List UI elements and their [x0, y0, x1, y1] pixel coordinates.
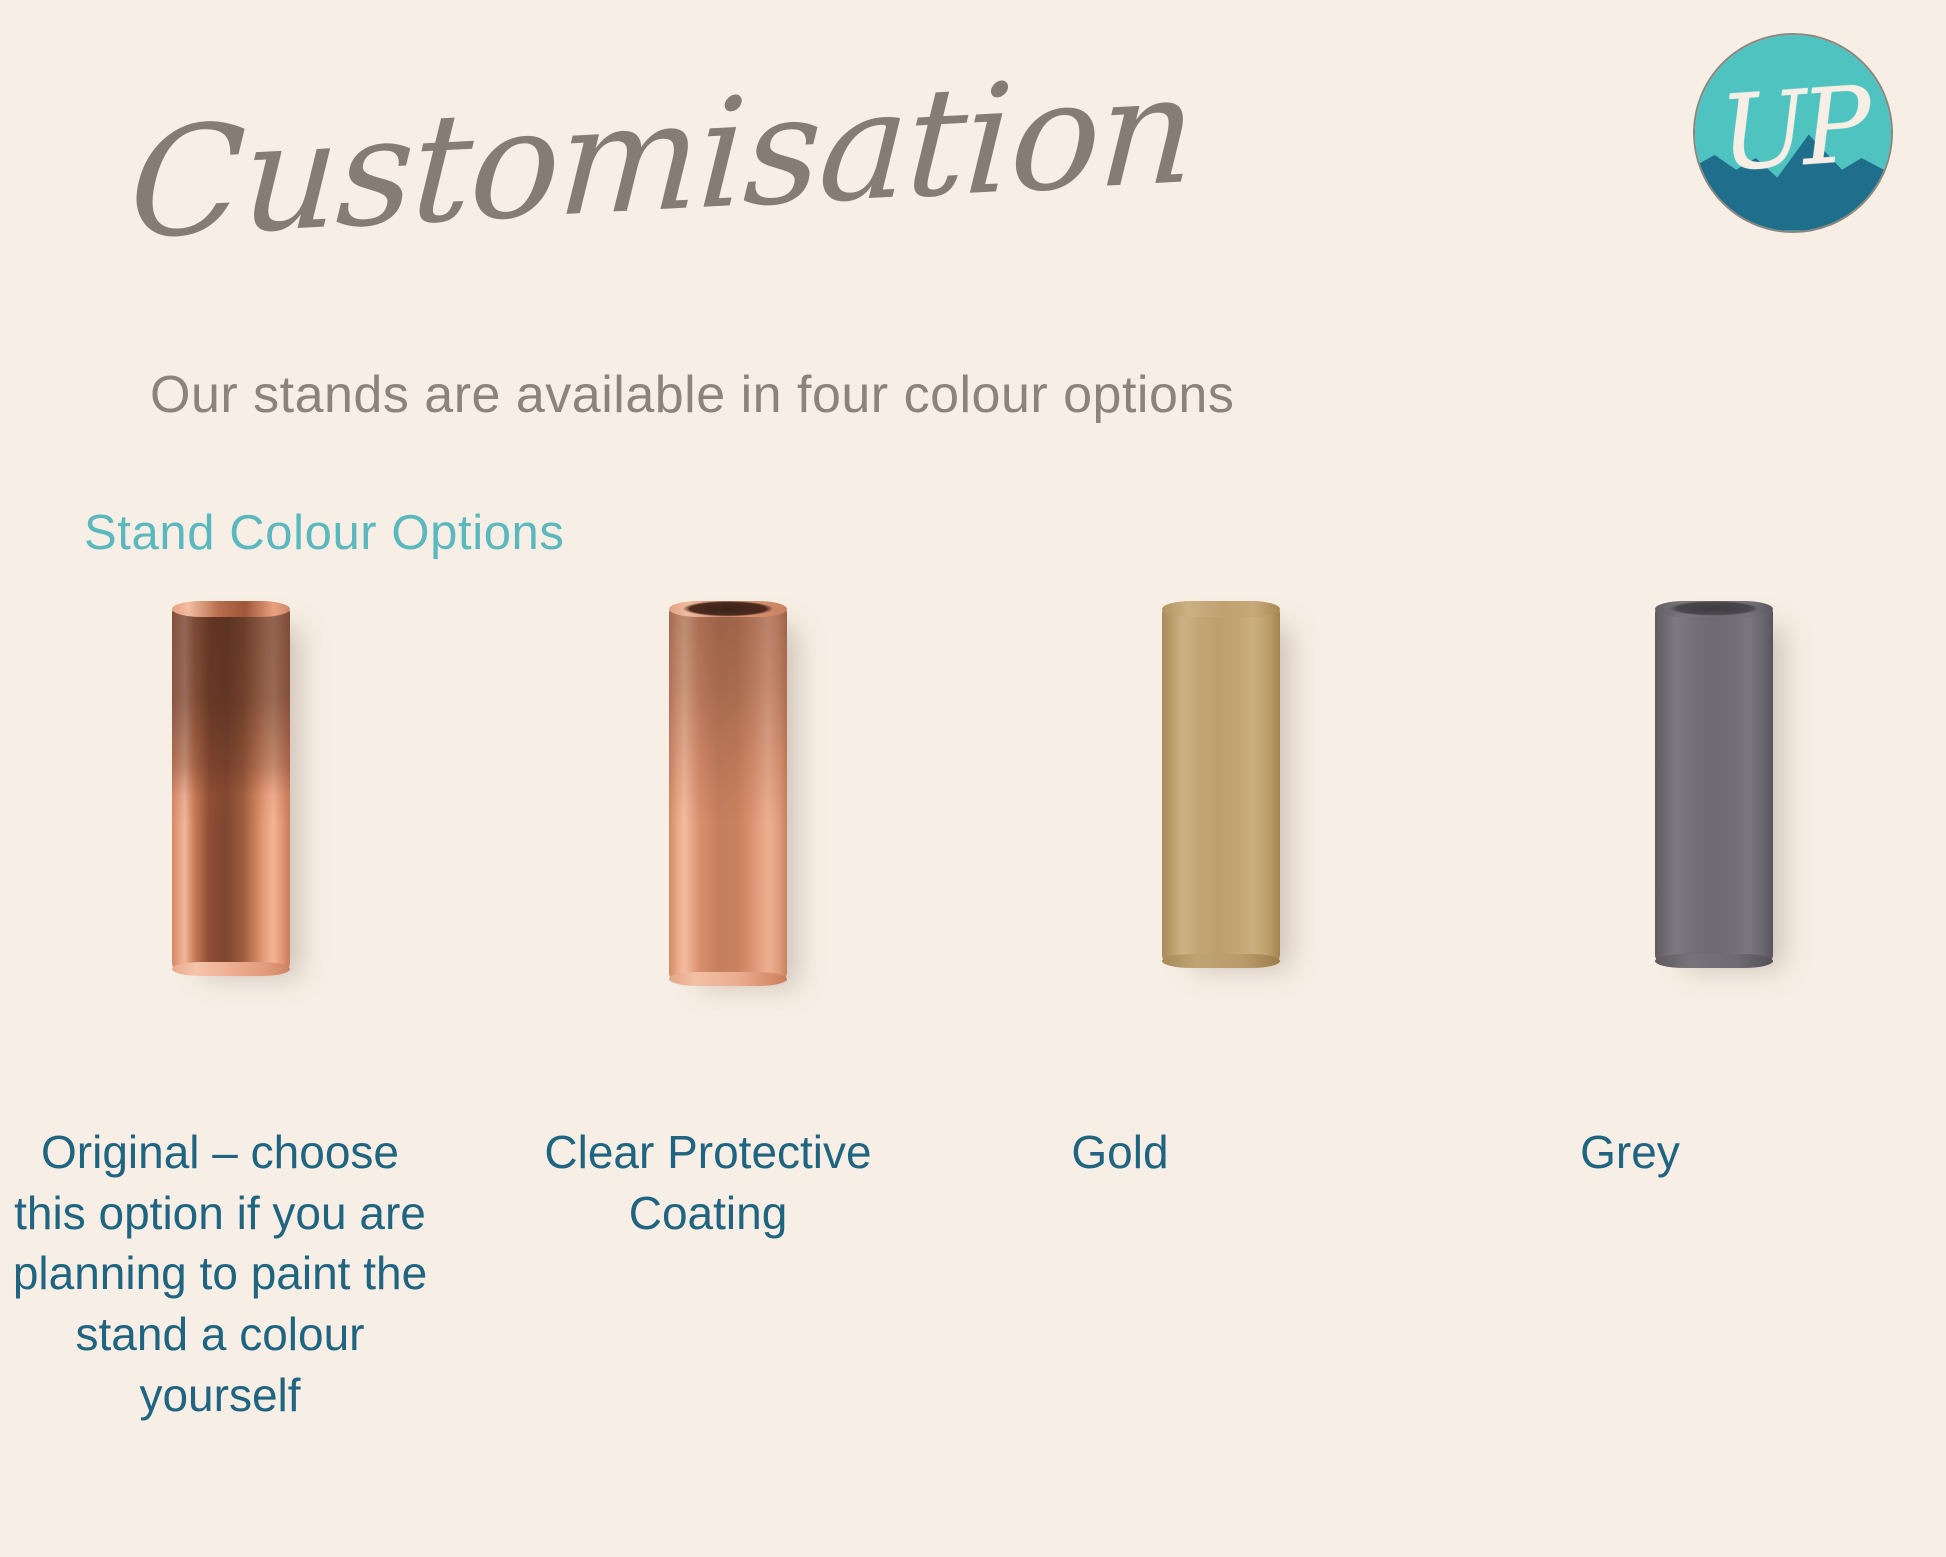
section-heading-stand-colour-options: Stand Colour Options — [84, 505, 565, 561]
swatch-label-original: Original – choose this option if you are… — [0, 1122, 440, 1426]
cylinder-top-cap — [669, 601, 787, 617]
stand-cylinder-original — [172, 603, 290, 973]
cylinder-bottom-cap — [1162, 954, 1280, 968]
page-title: Customisation — [126, 52, 1198, 266]
swatch-label-grey: Grey — [1440, 1122, 1820, 1183]
cylinder-bottom-cap — [1655, 954, 1773, 968]
stand-cylinder-gold — [1162, 603, 1280, 965]
swatch-clear-protective-coating[interactable] — [669, 603, 787, 983]
cylinder-top-cap — [1162, 601, 1280, 617]
logo-monogram: UP — [1693, 33, 1893, 233]
cylinder-bottom-cap — [669, 972, 787, 986]
stand-cylinder-clear-coating — [669, 603, 787, 983]
swatch-gold[interactable] — [1162, 603, 1280, 965]
slide-canvas: Customisation Our stands are available i… — [0, 0, 1946, 1557]
swatch-label-gold: Gold — [940, 1122, 1300, 1183]
swatch-label-clear-protective-coating: Clear Protective Coating — [468, 1122, 948, 1243]
up-logo: UP — [1693, 33, 1893, 233]
cylinder-top-cap — [172, 601, 290, 617]
page-subtitle: Our stands are available in four colour … — [150, 365, 1234, 425]
cylinder-top-cap — [1655, 601, 1773, 617]
swatch-grey[interactable] — [1655, 603, 1773, 965]
stand-cylinder-grey — [1655, 603, 1773, 965]
cylinder-bottom-cap — [172, 962, 290, 976]
swatch-original[interactable] — [172, 603, 290, 973]
